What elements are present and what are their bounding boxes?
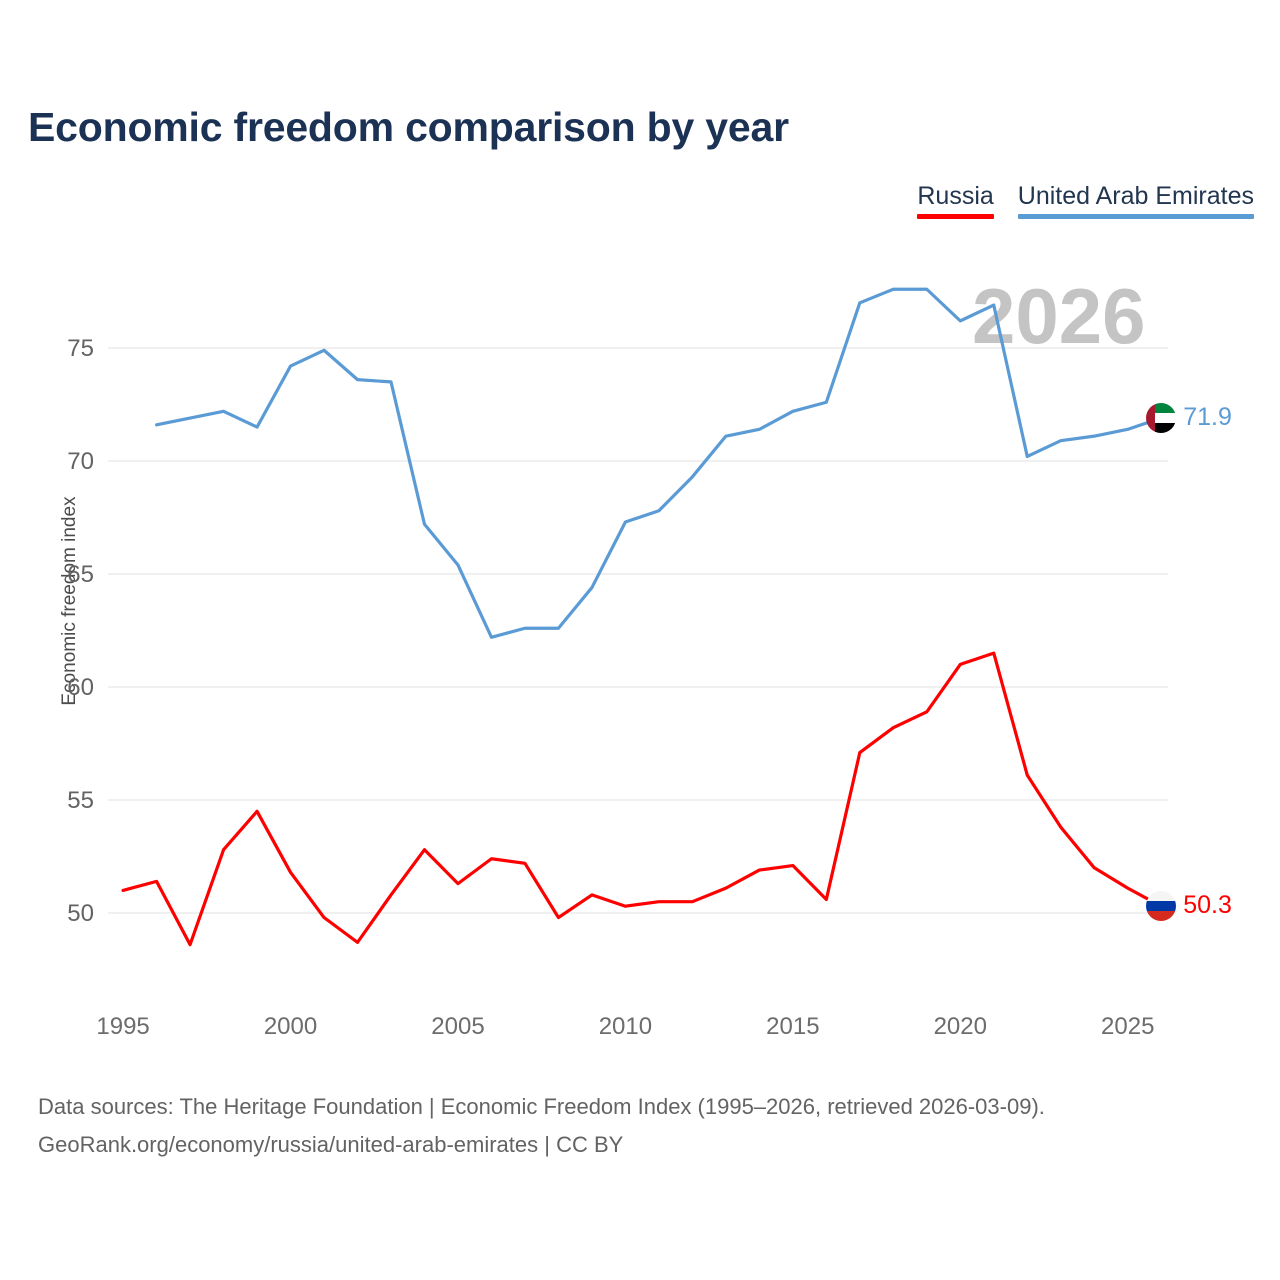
uae-flag-white-stripe — [1155, 413, 1176, 423]
chart-page: Economic freedom comparison by year Russ… — [0, 0, 1280, 1280]
russia-flag-blue-stripe — [1146, 901, 1176, 911]
series-line-russia — [123, 653, 1161, 945]
russia-end-value: 50.3 — [1183, 891, 1232, 920]
footer-line-1: Data sources: The Heritage Foundation | … — [38, 1088, 1045, 1126]
footer-line-2: GeoRank.org/economy/russia/united-arab-e… — [38, 1126, 1045, 1164]
footer-sources: Data sources: The Heritage Foundation | … — [38, 1088, 1045, 1164]
uae-end-value: 71.9 — [1183, 403, 1232, 432]
series-line-united-arab-emirates — [157, 289, 1162, 637]
